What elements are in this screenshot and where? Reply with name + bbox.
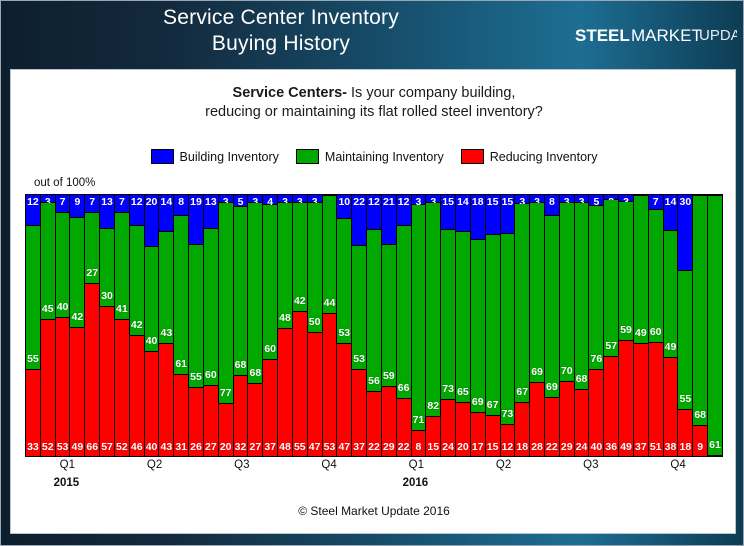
bar-segment-building: 18	[471, 195, 485, 240]
bar-value-label: 7	[119, 197, 125, 208]
bar-column: 124246	[130, 195, 145, 456]
bar-segment-reducing: 18	[515, 403, 529, 456]
x-axis-quarter-label: Q1	[409, 459, 424, 471]
bar-value-label: 27	[205, 442, 217, 453]
bar-column: 36718	[515, 195, 530, 456]
bar-segment-building: 3	[530, 195, 544, 203]
bar-segment-reducing: 57	[100, 307, 114, 456]
bar-value-label: 49	[72, 442, 84, 453]
bar-value-label: 55	[27, 354, 39, 365]
bar-segment-maintaining: 55	[678, 271, 692, 410]
bar-column: 136027	[204, 195, 219, 456]
bar-segment-maintaining: 30	[100, 229, 114, 307]
bar-value-label: 47	[338, 442, 350, 453]
bar-segment-building: 14	[664, 195, 678, 231]
bar-value-label: 53	[353, 354, 365, 365]
bar-value-label: 29	[561, 442, 573, 453]
bar-column: 126622	[397, 195, 412, 456]
bar-column: 36827	[248, 195, 263, 456]
bar-column: 204040	[145, 195, 160, 456]
bar-value-label: 49	[635, 328, 647, 339]
page-title: Service Center Inventory Buying History	[1, 5, 561, 57]
bar-value-label: 33	[27, 442, 39, 453]
bar-segment-maintaining: 77	[219, 203, 233, 404]
bar-column: 156715	[486, 195, 501, 456]
bar-segment-building: 12	[130, 195, 144, 226]
bar-value-label: 73	[442, 384, 454, 395]
bar-value-label: 45	[42, 304, 54, 315]
bar-segment-reducing: 43	[159, 344, 173, 456]
bar-segment-building: 3	[515, 195, 529, 204]
bar-column: 35047	[308, 195, 323, 456]
bar-segment-building: 3	[248, 195, 262, 203]
bar-segment-reducing: 31	[174, 375, 188, 456]
bar-column: 125622	[367, 195, 382, 456]
bar-column: 125533	[26, 195, 41, 456]
x-axis-quarter-label: Q3	[234, 459, 249, 471]
bar-segment-reducing: 37	[352, 370, 366, 456]
legend-item-maintaining: Maintaining Inventory	[296, 149, 444, 164]
subtitle-bold: Service Centers-	[233, 85, 347, 101]
bar-value-label: 55	[294, 442, 306, 453]
bar-segment-building: 4	[263, 195, 277, 205]
bar-segment-maintaining: 44	[323, 196, 337, 314]
bar-segment-reducing: 9	[693, 426, 707, 456]
bar-value-label: 73	[502, 409, 514, 420]
title-line-1: Service Center Inventory	[163, 6, 399, 29]
legend-swatch-maintaining-icon	[296, 149, 319, 164]
bar-value-label: 52	[42, 442, 54, 453]
bar-value-label: 71	[413, 415, 425, 426]
bar-segment-building: 13	[204, 195, 218, 229]
bar-segment-maintaining: 59	[619, 202, 633, 341]
bar-segment-maintaining: 69	[471, 240, 485, 413]
legend-item-reducing: Reducing Inventory	[461, 149, 598, 164]
bar-value-label: 15	[487, 442, 499, 453]
bar-segment-maintaining: 67	[515, 204, 529, 403]
bar-segment-building: 20	[145, 195, 159, 247]
bar-value-label: 12	[502, 442, 514, 453]
bar-segment-reducing: 27	[204, 386, 218, 456]
bar-column: 72766	[85, 195, 100, 456]
bar-value-label: 48	[279, 313, 291, 324]
bar-value-label: 22	[398, 442, 410, 453]
bar-column: 34552	[41, 195, 56, 456]
bar-segment-building: 10	[337, 195, 351, 219]
bar-segment-maintaining: 42	[70, 218, 84, 328]
bar-segment-reducing: 36	[604, 357, 618, 456]
bar-segment-reducing: 29	[382, 387, 396, 456]
bar-segment-reducing: 37	[634, 344, 648, 456]
bar-value-label: 22	[353, 197, 365, 208]
bar-segment-reducing: 66	[85, 284, 99, 456]
logo-text-steel: STEEL	[575, 26, 630, 45]
bar-segment-reducing: 51	[649, 343, 663, 456]
bar-value-label: 68	[235, 360, 247, 371]
bar-segment-maintaining: 53	[352, 246, 366, 370]
bar-segment-maintaining: 65	[456, 232, 470, 403]
bar-segment-building: 3	[41, 195, 55, 203]
bar-value-label: 8	[549, 197, 555, 208]
subtitle-rest: Is your company building,	[347, 85, 515, 101]
bar-value-label: 42	[72, 312, 84, 323]
legend-label-maintaining: Maintaining Inventory	[325, 150, 444, 164]
bar-value-label: 14	[161, 197, 173, 208]
bar-segment-reducing: 52	[115, 320, 129, 456]
bar-segment-reducing: 38	[664, 358, 678, 456]
bar-segment-building: 8	[174, 195, 188, 216]
bar-segment-building: 7	[649, 195, 663, 210]
bar-value-label: 44	[324, 298, 336, 309]
bar-value-label: 50	[309, 317, 321, 328]
bar-segment-maintaining: 60	[204, 229, 218, 386]
bar-value-label: 42	[131, 320, 143, 331]
bar-segment-maintaining: 73	[441, 230, 455, 400]
bar-segment-maintaining: 42	[293, 203, 307, 313]
bar-value-label: 24	[576, 442, 588, 453]
bar-segment-maintaining: 68	[248, 203, 262, 384]
bar-value-label: 49	[620, 442, 632, 453]
bar-value-label: 43	[161, 442, 173, 453]
bar-segment-reducing: 20	[456, 403, 470, 456]
bar-segment-maintaining: 49	[634, 196, 648, 344]
bar-value-label: 60	[650, 327, 662, 338]
bar-value-label: 47	[309, 442, 321, 453]
bar-segment-maintaining: 76	[589, 206, 603, 370]
bar-column: 4453	[323, 195, 338, 456]
bar-value-label: 55	[680, 394, 692, 405]
bar-segment-maintaining: 69	[545, 216, 559, 398]
bar-value-label: 30	[101, 291, 113, 302]
bar-segment-maintaining: 43	[159, 232, 173, 344]
bar-value-label: 77	[220, 388, 232, 399]
bar-segment-building: 7	[115, 195, 129, 213]
bar-segment-reducing: 49	[70, 328, 84, 456]
bar-value-label: 32	[235, 442, 247, 453]
x-axis-quarter-label: Q1	[60, 459, 75, 471]
x-axis-quarter-label: Q2	[496, 459, 511, 471]
legend-swatch-reducing-icon	[461, 149, 484, 164]
bar-segment-building: 5	[234, 195, 248, 207]
bar-segment-reducing: 26	[189, 388, 203, 456]
legend-label-building: Building Inventory	[180, 150, 279, 164]
bar-segment-reducing: 55	[293, 312, 307, 456]
bar-segment-maintaining: 82	[426, 203, 440, 417]
bar-column: 689	[693, 195, 708, 456]
bar-segment-building: 7	[56, 195, 70, 213]
bar-value-label: 69	[546, 382, 558, 393]
bar-value-label: 76	[591, 354, 603, 365]
bar-segment-building: 12	[397, 195, 411, 226]
logo-text-update: UPDATE	[699, 27, 737, 44]
bar-column: 144938	[664, 195, 679, 456]
bar-value-label: 53	[324, 442, 336, 453]
header-bar: Service Center Inventory Buying History …	[1, 1, 744, 69]
slide-root: Service Center Inventory Buying History …	[0, 0, 744, 546]
legend-label-reducing: Reducing Inventory	[490, 150, 598, 164]
bar-value-label: 68	[694, 410, 706, 421]
bar-value-label: 43	[161, 328, 173, 339]
logo-text-market: MARKET	[631, 26, 702, 45]
bar-segment-reducing: 27	[248, 384, 262, 456]
bar-value-label: 18	[516, 442, 528, 453]
bar-value-label: 37	[264, 442, 276, 453]
bar-value-label: 40	[57, 302, 69, 313]
bar-value-label: 7	[653, 197, 659, 208]
bar-value-label: 38	[665, 442, 677, 453]
bar-value-label: 26	[190, 442, 202, 453]
bar-value-label: 67	[487, 400, 499, 411]
bar-value-label: 57	[101, 442, 113, 453]
logo-crescent-icon: STEEL MARKET UPDATE	[571, 9, 737, 61]
x-axis-quarter-label: Q4	[321, 459, 336, 471]
bar-segment-maintaining: 67	[486, 235, 500, 415]
bar-segment-reducing: 53	[56, 318, 70, 456]
bar-segment-reducing: 49	[619, 341, 633, 456]
bar-segment-maintaining: 61	[708, 196, 722, 456]
bar-column: 225337	[352, 195, 367, 456]
bar-value-label: 15	[487, 197, 499, 208]
bar-segment-maintaining: 69	[530, 203, 544, 383]
bar-segment-maintaining: 50	[308, 203, 322, 334]
bar-value-label: 40	[146, 336, 158, 347]
bar-value-label: 8	[178, 197, 184, 208]
bar-segment-maintaining: 55	[189, 245, 203, 389]
bar-value-label: 52	[116, 442, 128, 453]
bar-segment-building: 3	[412, 195, 426, 205]
bar-segment-maintaining: 60	[263, 205, 277, 360]
bar-column: 34255	[293, 195, 308, 456]
steel-market-update-logo: STEEL MARKET UPDATE	[571, 9, 737, 61]
bar-segment-reducing: 47	[308, 333, 322, 456]
bar-value-label: 24	[442, 442, 454, 453]
bar-segment-maintaining: 59	[382, 245, 396, 386]
bar-segment-maintaining: 60	[649, 210, 663, 343]
bar-value-label: 27	[86, 268, 98, 279]
bar-value-label: 20	[457, 442, 469, 453]
bar-column: 186917	[471, 195, 486, 456]
bar-segment-reducing: 40	[589, 370, 603, 456]
bar-column: 74053	[56, 195, 71, 456]
bar-value-label: 37	[353, 442, 365, 453]
bar-value-label: 60	[264, 344, 276, 355]
bar-column: 94249	[70, 195, 85, 456]
bar-value-label: 56	[368, 376, 380, 387]
bar-column: 37029	[560, 195, 575, 456]
bar-segment-building: 12	[26, 195, 40, 226]
bar-segment-reducing: 22	[545, 398, 559, 456]
bar-segment-reducing: 29	[560, 382, 574, 456]
bar-segment-reducing: 40	[145, 352, 159, 456]
bar-column: 105347	[337, 195, 352, 456]
bar-value-label: 37	[635, 442, 647, 453]
bar-value-label: 14	[457, 197, 469, 208]
bar-value-label: 18	[472, 197, 484, 208]
bar-segment-reducing: 20	[219, 404, 233, 456]
bar-value-label: 65	[457, 387, 469, 398]
bar-segment-reducing: 37	[263, 360, 277, 456]
bar-column: 36824	[575, 195, 590, 456]
bar-segment-building: 8	[545, 195, 559, 216]
bar-value-label: 49	[665, 342, 677, 353]
bar-value-label: 66	[398, 383, 410, 394]
bar-value-label: 41	[116, 304, 128, 315]
bar-column: 37720	[219, 195, 234, 456]
bar-segment-maintaining: 66	[397, 226, 411, 398]
legend-swatch-building-icon	[151, 149, 174, 164]
bar-segment-building: 30	[678, 195, 692, 271]
bar-value-label: 13	[101, 197, 113, 208]
bar-column: 157324	[441, 195, 456, 456]
bar-column: 25736	[604, 195, 619, 456]
bar-value-label: 53	[57, 442, 69, 453]
bar-segment-building: 3	[426, 195, 440, 203]
bar-value-label: 9	[697, 442, 703, 453]
bar-value-label: 30	[680, 197, 692, 208]
bar-segment-reducing: 32	[234, 376, 248, 456]
bar-segment-reducing: 47	[337, 344, 351, 456]
bar-segment-building: 15	[501, 195, 515, 234]
bar-value-label: 60	[205, 370, 217, 381]
chart-panel: Service Centers- Is your company buildin…	[10, 69, 736, 534]
bar-value-label: 14	[665, 197, 677, 208]
bar-segment-building: 3	[575, 195, 589, 203]
bar-value-label: 5	[238, 197, 244, 208]
bar-segment-reducing: 22	[367, 392, 381, 456]
bar-value-label: 68	[576, 374, 588, 385]
bar-value-label: 46	[131, 442, 143, 453]
bar-segment-building: 3	[219, 195, 233, 203]
bar-segment-reducing: 15	[426, 417, 440, 456]
bar-value-label: 31	[175, 442, 187, 453]
bar-segment-building: 13	[100, 195, 114, 229]
bar-segment-building: 12	[367, 195, 381, 230]
bar-segment-building: 15	[441, 195, 455, 230]
bar-column: 46037	[263, 195, 278, 456]
bar-value-label: 15	[502, 197, 514, 208]
bar-segment-reducing: 15	[486, 416, 500, 456]
bar-segment-reducing: 18	[678, 410, 692, 456]
bar-segment-building: 3	[619, 195, 633, 202]
bar-segment-building: 9	[70, 195, 84, 218]
bar-value-label: 15	[427, 442, 439, 453]
bar-value-label: 59	[620, 325, 632, 336]
bar-value-label: 55	[190, 372, 202, 383]
bar-segment-maintaining: 73	[501, 234, 515, 425]
bar-value-label: 27	[249, 442, 261, 453]
x-axis: Q12015Q2Q3Q4Q12016Q2Q3Q4	[25, 457, 723, 505]
bar-segment-building: 3	[293, 195, 307, 203]
bar-value-label: 22	[546, 442, 558, 453]
bar-segment-building: 7	[85, 195, 99, 213]
bar-segment-maintaining: 70	[560, 203, 574, 382]
bar-column: 74152	[115, 195, 130, 456]
bar-value-label: 36	[605, 442, 617, 453]
bar-value-label: 12	[131, 197, 143, 208]
bar-column: 57640	[589, 195, 604, 456]
bar-value-label: 28	[531, 442, 543, 453]
bar-value-label: 42	[294, 296, 306, 307]
bar-value-label: 10	[338, 197, 350, 208]
bar-segment-reducing: 24	[441, 400, 455, 456]
bar-value-label: 48	[279, 442, 291, 453]
bar-column: 36928	[530, 195, 545, 456]
bar-segment-maintaining: 42	[130, 226, 144, 336]
bar-segment-maintaining: 40	[145, 247, 159, 351]
bar-value-label: 15	[442, 197, 454, 208]
bar-segment-reducing: 53	[323, 314, 337, 456]
bar-segment-building: 3	[560, 195, 574, 203]
bar-value-label: 18	[680, 442, 692, 453]
bar-column: 4937	[634, 195, 649, 456]
bar-segment-maintaining: 41	[115, 213, 129, 320]
bar-value-label: 51	[650, 442, 662, 453]
bar-segment-building: 21	[382, 195, 396, 245]
bar-column: 146520	[456, 195, 471, 456]
bar-segment-reducing: 8	[412, 431, 426, 456]
bar-segment-maintaining: 57	[604, 200, 618, 357]
bar-value-label: 7	[89, 197, 95, 208]
bar-segment-building: 3	[308, 195, 322, 203]
bar-segment-maintaining: 40	[56, 213, 70, 317]
bar-column: 195526	[189, 195, 204, 456]
bar-value-label: 12	[27, 197, 39, 208]
bar-value-label: 66	[86, 442, 98, 453]
title-line-2: Buying History	[1, 31, 561, 57]
x-axis-year-label: 2015	[54, 477, 80, 489]
bar-segment-building: 22	[352, 195, 366, 246]
bar-segment-building: 15	[486, 195, 500, 235]
bar-segment-maintaining: 55	[26, 226, 40, 370]
bar-value-label: 69	[472, 397, 484, 408]
bar-column: 305518	[678, 195, 693, 456]
bar-value-label: 61	[709, 440, 721, 451]
bar-value-label: 53	[338, 328, 350, 339]
bar-value-label: 19	[190, 197, 202, 208]
bar-segment-maintaining: 45	[41, 203, 55, 320]
bar-value-label: 7	[60, 197, 66, 208]
bar-value-label: 21	[383, 197, 395, 208]
bar-segment-building: 14	[159, 195, 173, 232]
bar-segment-reducing: 48	[278, 329, 292, 456]
x-axis-year-label: 2016	[403, 477, 429, 489]
bar-segment-reducing: 17	[471, 413, 485, 456]
bar-segment-maintaining: 56	[367, 230, 381, 392]
bar-segment-building: 5	[589, 195, 603, 206]
bar-value-label: 69	[531, 367, 543, 378]
bar-value-label: 20	[220, 442, 232, 453]
subtitle-line-1: Service Centers- Is your company buildin…	[11, 84, 737, 103]
bar-segment-reducing: 22	[397, 399, 411, 456]
bar-value-label: 57	[605, 341, 617, 352]
bar-segment-building: 19	[189, 195, 203, 245]
bar-segment-maintaining: 53	[337, 219, 351, 345]
bar-value-label: 61	[175, 359, 187, 370]
copyright-text: © Steel Market Update 2016	[11, 504, 737, 518]
bar-segment-maintaining: 68	[234, 207, 248, 376]
bar-value-label: 82	[427, 401, 439, 412]
bar-column: 38215	[426, 195, 441, 456]
bar-segment-maintaining: 48	[278, 203, 292, 330]
bar-segment-reducing: 33	[26, 370, 40, 456]
bar-column: 56832	[234, 195, 249, 456]
bar-column: 61	[708, 195, 722, 456]
bar-segment-maintaining: 49	[664, 231, 678, 358]
bar-value-label: 20	[146, 197, 158, 208]
bar-value-label: 59	[383, 371, 395, 382]
bar-segment-reducing: 12	[501, 425, 515, 456]
bar-column: 215929	[382, 195, 397, 456]
